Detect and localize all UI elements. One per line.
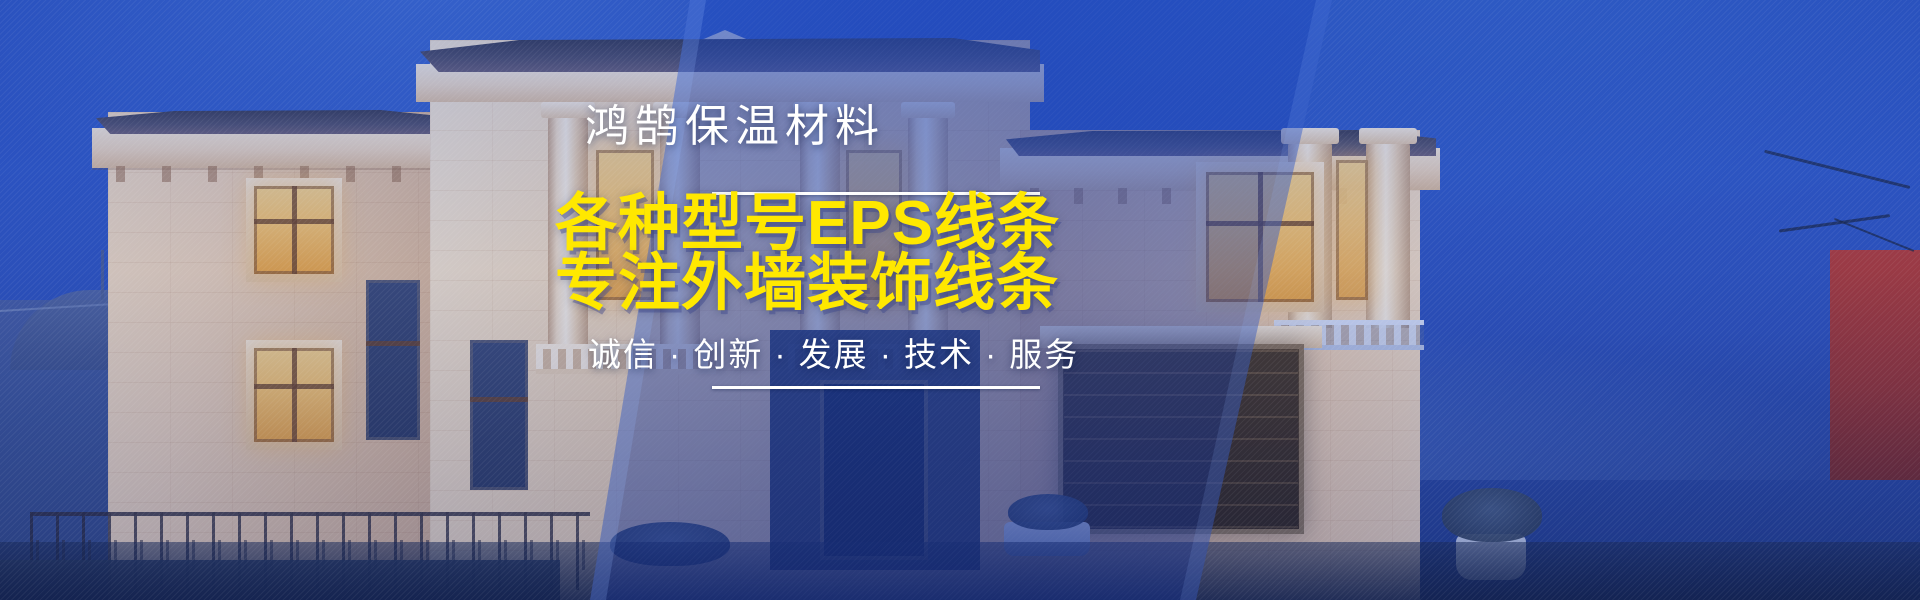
window-dark [470, 340, 528, 490]
window-mullion-horizontal [470, 397, 528, 402]
column [1366, 142, 1410, 328]
tree-branch [1834, 218, 1914, 252]
window-mullion-vertical [292, 348, 297, 442]
column [908, 116, 948, 348]
balustrade [536, 344, 716, 374]
tree-branch [1779, 214, 1890, 233]
left-wing-roof [96, 110, 452, 134]
column [548, 116, 588, 348]
hero-banner: 鸿鹄保温材料 各种型号EPS线条 专注外墙装饰线条 诚信 · 创新 · 发展 ·… [0, 0, 1920, 600]
left-wing-cornice [92, 128, 454, 168]
red-structure [1830, 250, 1920, 480]
entrance-door [820, 380, 928, 560]
window-mullion-horizontal [366, 341, 420, 346]
window-lit [254, 348, 334, 442]
window-mullion-horizontal [1206, 221, 1314, 226]
portico-glow [596, 150, 654, 300]
shrub [1442, 488, 1542, 542]
column [660, 116, 700, 348]
window-mullion-horizontal [254, 219, 334, 224]
garage-door [1058, 344, 1304, 534]
tree-branch [1764, 150, 1910, 189]
window-mullion-vertical [292, 186, 297, 274]
window-mullion-horizontal [254, 384, 334, 389]
column [800, 116, 840, 348]
window-lit [254, 186, 334, 274]
portico-glow [846, 150, 902, 300]
distant-spire [101, 250, 104, 300]
window-mullion-vertical [1258, 172, 1263, 302]
shrub [1008, 494, 1088, 530]
villa-illustration [0, 0, 1920, 600]
portico-glow [1336, 160, 1368, 300]
window-lit [1206, 172, 1314, 302]
center-roof [420, 38, 1040, 72]
window-dark [366, 280, 420, 440]
foreground-ground [0, 542, 1920, 600]
garage-door-slats [1064, 350, 1298, 528]
